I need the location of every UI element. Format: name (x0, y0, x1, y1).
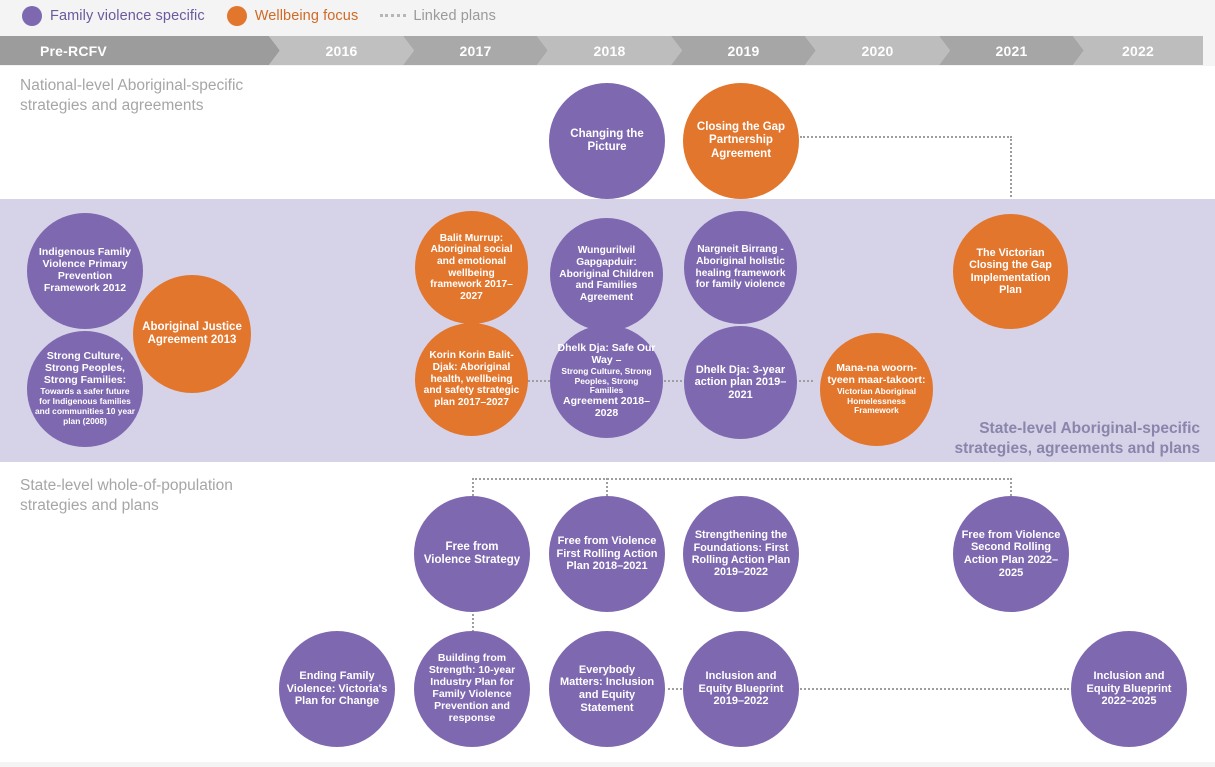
node-label: Strong Culture, Strong Peoples, Strong F… (44, 350, 126, 386)
connector-ffv-strategy-stem (472, 478, 474, 496)
node-label: Dhelk Dja: Safe Our Way – (557, 342, 655, 366)
node-label: Strengthening the Foundations: First Rol… (683, 529, 799, 578)
timeline-diagram: Family violence specific Wellbeing focus… (0, 0, 1215, 767)
timeline-segment-2021: 2021 (939, 36, 1084, 65)
node-label: Mana-na woorn-tyeen maar-takoort: (827, 362, 925, 386)
node-free-from-violence-first-rolling-action-plan[interactable]: Free from Violence First Rolling Action … (549, 496, 665, 612)
connector-dhelkdja-action-mana (795, 380, 813, 382)
band-state-aboriginal-title-line2: strategies, agreements and plans (860, 439, 1200, 459)
node-sublabel: Victorian Aboriginal Homelessness Framew… (827, 387, 926, 417)
node-label: Dhelk Dja: 3-year action plan 2019–2021 (684, 364, 797, 402)
band-national-title-line2: strategies and agreements (20, 96, 340, 116)
timeline-segment-2022: 2022 (1073, 36, 1203, 65)
node-sublabel: Strong Culture, Strong Peoples, Strong F… (557, 367, 656, 397)
node-free-from-violence-strategy[interactable]: Free from Violence Strategy (414, 496, 530, 612)
node-dhelk-dja-safe-our-way[interactable]: Dhelk Dja: Safe Our Way – Strong Culture… (550, 325, 663, 438)
node-aboriginal-justice-agreement[interactable]: Aboriginal Justice Agreement 2013 (133, 275, 251, 393)
legend-label-linked-plans: Linked plans (413, 8, 496, 24)
connector-inclusion-2019-2022 (797, 688, 1069, 690)
legend: Family violence specific Wellbeing focus… (0, 0, 1215, 31)
node-sublabel: Towards a safer future for Indigenous fa… (34, 387, 136, 427)
timeline-segment-pre-rcfv: Pre-RCFV (0, 36, 280, 65)
node-korin-korin-balit-djak[interactable]: Korin Korin Balit-Djak: Aboriginal healt… (415, 323, 528, 436)
circle-orange-icon (227, 6, 247, 26)
timeline-segment-label: Pre-RCFV (40, 43, 107, 59)
node-free-from-violence-second-rolling-action-plan[interactable]: Free from Violence Second Rolling Action… (953, 496, 1069, 612)
timeline-segment-2017: 2017 (403, 36, 548, 65)
node-label: Ending Family Violence: Victoria's Plan … (279, 670, 395, 708)
timeline-segment-2016: 2016 (269, 36, 414, 65)
timeline-segment-2019: 2019 (671, 36, 816, 65)
timeline-segment-label: 2022 (1122, 43, 1154, 59)
node-changing-the-picture[interactable]: Changing the Picture (549, 83, 665, 199)
timeline-segment-label: 2019 (728, 43, 760, 59)
connector-dhelkdja-action (660, 380, 686, 382)
node-label: Building from Strength: 10-year Industry… (414, 653, 530, 725)
node-label: Korin Korin Balit-Djak: Aboriginal healt… (415, 350, 528, 408)
legend-item-linked-plans: Linked plans (380, 8, 496, 24)
timeline-segment-label: 2017 (460, 43, 492, 59)
node-label: Free from Violence Strategy (414, 541, 530, 567)
node-mana-na-woorn-tyeen-maar-takoort[interactable]: Mana-na woorn-tyeen maar-takoort: Victor… (820, 333, 933, 446)
legend-item-family-violence: Family violence specific (22, 6, 205, 26)
node-label: Inclusion and Equity Blueprint 2022–2025 (1071, 670, 1187, 708)
node-label: Balit Murrup: Aboriginal social and emot… (415, 233, 528, 303)
timeline-segment-label: 2020 (862, 43, 894, 59)
node-label: Free from Violence First Rolling Action … (549, 535, 665, 573)
node-label-2: Agreement 2018–2028 (557, 396, 656, 420)
node-inclusion-and-equity-blueprint-2019[interactable]: Inclusion and Equity Blueprint 2019–2022 (683, 631, 799, 747)
band-national-title: National-level Aboriginal-specific strat… (20, 76, 340, 116)
node-label: Indigenous Family Violence Primary Preve… (27, 247, 143, 295)
timeline-segment-label: 2018 (594, 43, 626, 59)
node-inclusion-and-equity-blueprint-2022[interactable]: Inclusion and Equity Blueprint 2022–2025 (1071, 631, 1187, 747)
legend-label-wellbeing: Wellbeing focus (255, 8, 359, 24)
timeline-segment-label: 2021 (996, 43, 1028, 59)
timeline-segment-2020: 2020 (805, 36, 950, 65)
node-label: Nargneit Birrang - Aboriginal holistic h… (684, 244, 797, 291)
node-strong-culture-strong-peoples-strong-families[interactable]: Strong Culture, Strong Peoples, Strong F… (27, 331, 143, 447)
node-indigenous-family-violence-primary-prevention-framework[interactable]: Indigenous Family Violence Primary Preve… (27, 213, 143, 329)
timeline-segment-2018: 2018 (537, 36, 682, 65)
band-state-population-title: State-level whole-of-population strategi… (20, 476, 360, 516)
band-state-population-title-line2: strategies and plans (20, 496, 360, 516)
node-strengthening-the-foundations[interactable]: Strengthening the Foundations: First Rol… (683, 496, 799, 612)
connector-ffv-second-rap-stem (1010, 478, 1012, 496)
node-dhelk-dja-3-year-action-plan[interactable]: Dhelk Dja: 3-year action plan 2019–2021 (684, 326, 797, 439)
node-wungurilwil-gapgapduir[interactable]: Wungurilwil Gapgapduir: Aboriginal Child… (550, 218, 663, 331)
node-label: Changing the Picture (549, 128, 665, 154)
legend-item-wellbeing: Wellbeing focus (227, 6, 359, 26)
node-building-from-strength[interactable]: Building from Strength: 10-year Industry… (414, 631, 530, 747)
band-state-population-title-line1: State-level whole-of-population (20, 476, 360, 496)
node-nargneit-birrang[interactable]: Nargneit Birrang - Aboriginal holistic h… (684, 211, 797, 324)
timeline-segment-label: 2016 (326, 43, 358, 59)
node-everybody-matters[interactable]: Everybody Matters: Inclusion and Equity … (549, 631, 665, 747)
node-label: Free from Violence Second Rolling Action… (953, 529, 1069, 579)
node-label: Everybody Matters: Inclusion and Equity … (549, 664, 665, 714)
node-label: Aboriginal Justice Agreement 2013 (133, 321, 251, 347)
node-label: Wungurilwil Gapgapduir: Aboriginal Child… (550, 245, 663, 303)
connector-ffv-rail (472, 478, 1012, 480)
node-label-group: Mana-na woorn-tyeen maar-takoort: Victor… (820, 363, 933, 417)
node-label: Inclusion and Equity Blueprint 2019–2022 (683, 670, 799, 708)
band-national-title-line1: National-level Aboriginal-specific (20, 76, 340, 96)
timeline-ribbon: Pre-RCFV 2016 2017 2018 2019 2020 2021 2… (0, 36, 1215, 65)
connector-ffv-first-rap-stem (606, 478, 608, 496)
dotted-line-icon (380, 14, 406, 17)
node-label: Closing the Gap Partnership Agreement (683, 121, 799, 160)
circle-purple-icon (22, 6, 42, 26)
node-label-group: Strong Culture, Strong Peoples, Strong F… (27, 351, 143, 427)
connector-closing-gap-horizontal (800, 136, 1012, 138)
legend-label-family-violence: Family violence specific (50, 8, 205, 24)
node-victorian-closing-the-gap-implementation-plan[interactable]: The Victorian Closing the Gap Implementa… (953, 214, 1068, 329)
node-ending-family-violence[interactable]: Ending Family Violence: Victoria's Plan … (279, 631, 395, 747)
node-label-group: Dhelk Dja: Safe Our Way – Strong Culture… (550, 343, 663, 421)
node-label: The Victorian Closing the Gap Implementa… (953, 247, 1068, 296)
node-closing-the-gap-partnership-agreement[interactable]: Closing the Gap Partnership Agreement (683, 83, 799, 199)
node-balit-murrup[interactable]: Balit Murrup: Aboriginal social and emot… (415, 211, 528, 324)
